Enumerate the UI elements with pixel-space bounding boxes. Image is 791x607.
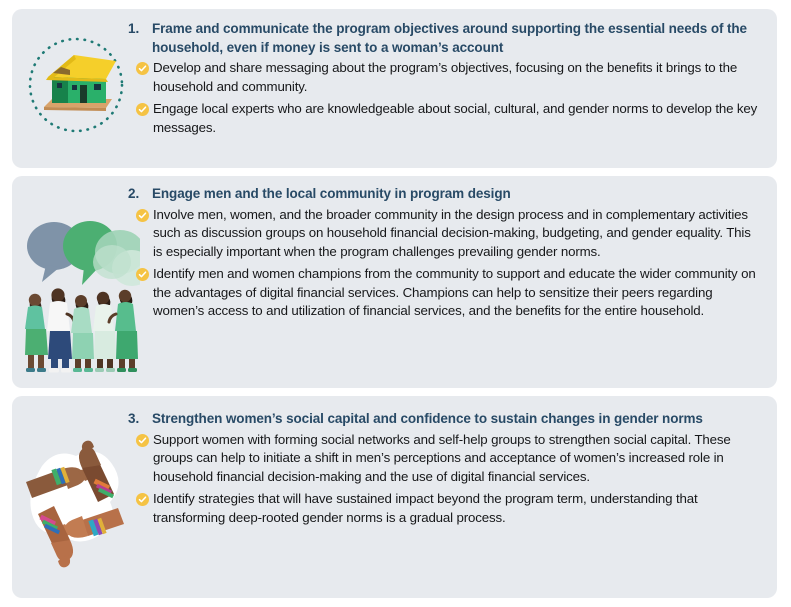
check-circle-icon [136,434,149,447]
recommendation-1-number: 1. [128,20,152,39]
bullet-item: Identify strategies that will have susta… [128,490,763,527]
recommendation-1-heading: Frame and communicate the program object… [152,20,763,57]
recommendation-card-2: 2. Engage men and the local community in… [12,176,777,388]
recommendation-3-content: 3. Strengthen women’s social capital and… [128,410,763,527]
bullet-text: Identify men and women champions from th… [153,265,763,321]
check-circle-icon [136,62,149,75]
recommendation-3-heading: Strengthen women’s social capital and co… [152,410,763,429]
recommendation-2-content: 2. Engage men and the local community in… [128,185,763,321]
recommendation-2-heading-row: 2. Engage men and the local community in… [128,185,763,204]
house-in-dotted-circle-icon [12,17,140,157]
recommendation-3-heading-row: 3. Strengthen women’s social capital and… [128,410,763,429]
bullet-item: Support women with forming social networ… [128,431,763,487]
recommendations-page: 1. Frame and communicate the program obj… [0,0,791,607]
recommendation-3-number: 3. [128,410,152,429]
bullet-text: Develop and share messaging about the pr… [153,59,763,96]
recommendation-card-1: 1. Frame and communicate the program obj… [12,9,777,168]
bullet-text: Support women with forming social networ… [153,431,763,487]
recommendation-card-3: 3. Strengthen women’s social capital and… [12,396,777,598]
recommendation-2-number: 2. [128,185,152,204]
check-circle-icon [136,268,149,281]
bullet-item: Engage local experts who are knowledgeab… [128,100,763,137]
four-hands-circle-icon [12,438,140,570]
community-discussion-illustration [12,210,140,375]
check-circle-icon [136,493,149,506]
bullet-item: Involve men, women, and the broader comm… [128,206,763,262]
recommendation-1-bullets: Develop and share messaging about the pr… [128,59,763,137]
bullet-text: Involve men, women, and the broader comm… [153,206,763,262]
bullet-item: Identify men and women champions from th… [128,265,763,321]
recommendation-2-bullets: Involve men, women, and the broader comm… [128,206,763,322]
recommendation-3-bullets: Support women with forming social networ… [128,431,763,528]
recommendation-2-heading: Engage men and the local community in pr… [152,185,763,204]
recommendation-1-content: 1. Frame and communicate the program obj… [128,20,763,137]
recommendation-1-heading-row: 1. Frame and communicate the program obj… [128,20,763,57]
bullet-item: Develop and share messaging about the pr… [128,59,763,96]
bullet-text: Engage local experts who are knowledgeab… [153,100,763,137]
check-circle-icon [136,209,149,222]
check-circle-icon [136,103,149,116]
bullet-text: Identify strategies that will have susta… [153,490,763,527]
